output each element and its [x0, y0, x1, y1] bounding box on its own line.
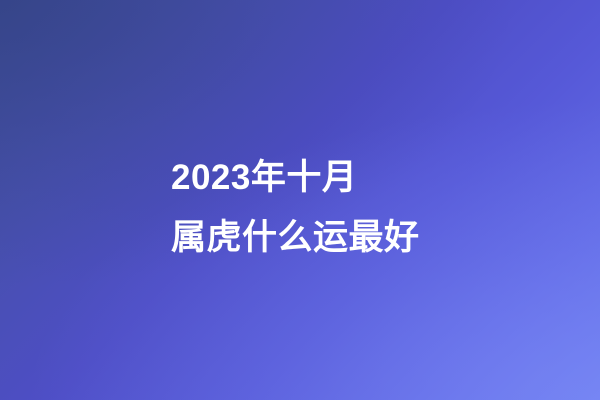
banner-title-line-1: 2023年十月: [171, 148, 471, 208]
banner-title-block: 2023年十月 属虎什么运最好: [171, 148, 471, 268]
title-banner: 2023年十月 属虎什么运最好: [0, 0, 600, 400]
banner-title-line-2: 属虎什么运最好: [171, 208, 471, 268]
